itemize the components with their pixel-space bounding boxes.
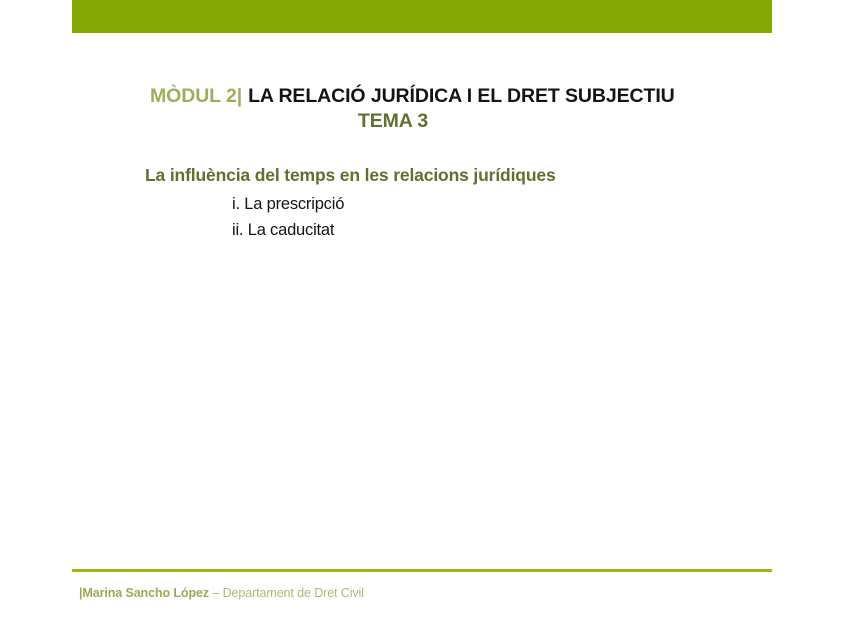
- list-item: ii. La caducitat: [145, 218, 745, 244]
- footer-author-name: Marina Sancho López: [82, 586, 209, 600]
- list-item-marker: i.: [232, 195, 240, 213]
- top-banner-bar: [72, 0, 772, 33]
- list-item-marker: ii.: [232, 221, 243, 239]
- tema-label: TEMA 3: [150, 109, 636, 134]
- presentation-slide: MÒDUL 2|LA RELACIÓ JURÍDICA I EL DRET SU…: [0, 0, 848, 636]
- footer-department: Departament de Dret Civil: [223, 586, 364, 600]
- page-title: LA RELACIÓ JURÍDICA I EL DRET SUBJECTIU: [248, 85, 675, 107]
- list-item-label: La caducitat: [248, 221, 335, 239]
- list-item-label: La prescripció: [244, 195, 344, 213]
- list-item: i. La prescripció: [145, 192, 745, 218]
- body-content: La influència del temps en les relacions…: [145, 163, 745, 243]
- footer-divider: [72, 569, 772, 572]
- module-pipe-separator: |: [237, 85, 242, 107]
- title-block: MÒDUL 2|LA RELACIÓ JURÍDICA I EL DRET SU…: [150, 84, 710, 134]
- title-primary-line: MÒDUL 2|LA RELACIÓ JURÍDICA I EL DRET SU…: [150, 84, 710, 109]
- module-label: MÒDUL 2: [150, 85, 237, 107]
- footer: |Marina Sancho López – Departament de Dr…: [79, 585, 364, 602]
- section-subtitle: La influència del temps en les relacions…: [145, 163, 745, 187]
- footer-separator: –: [209, 586, 223, 600]
- subsection-list: i. La prescripció ii. La caducitat: [145, 192, 745, 243]
